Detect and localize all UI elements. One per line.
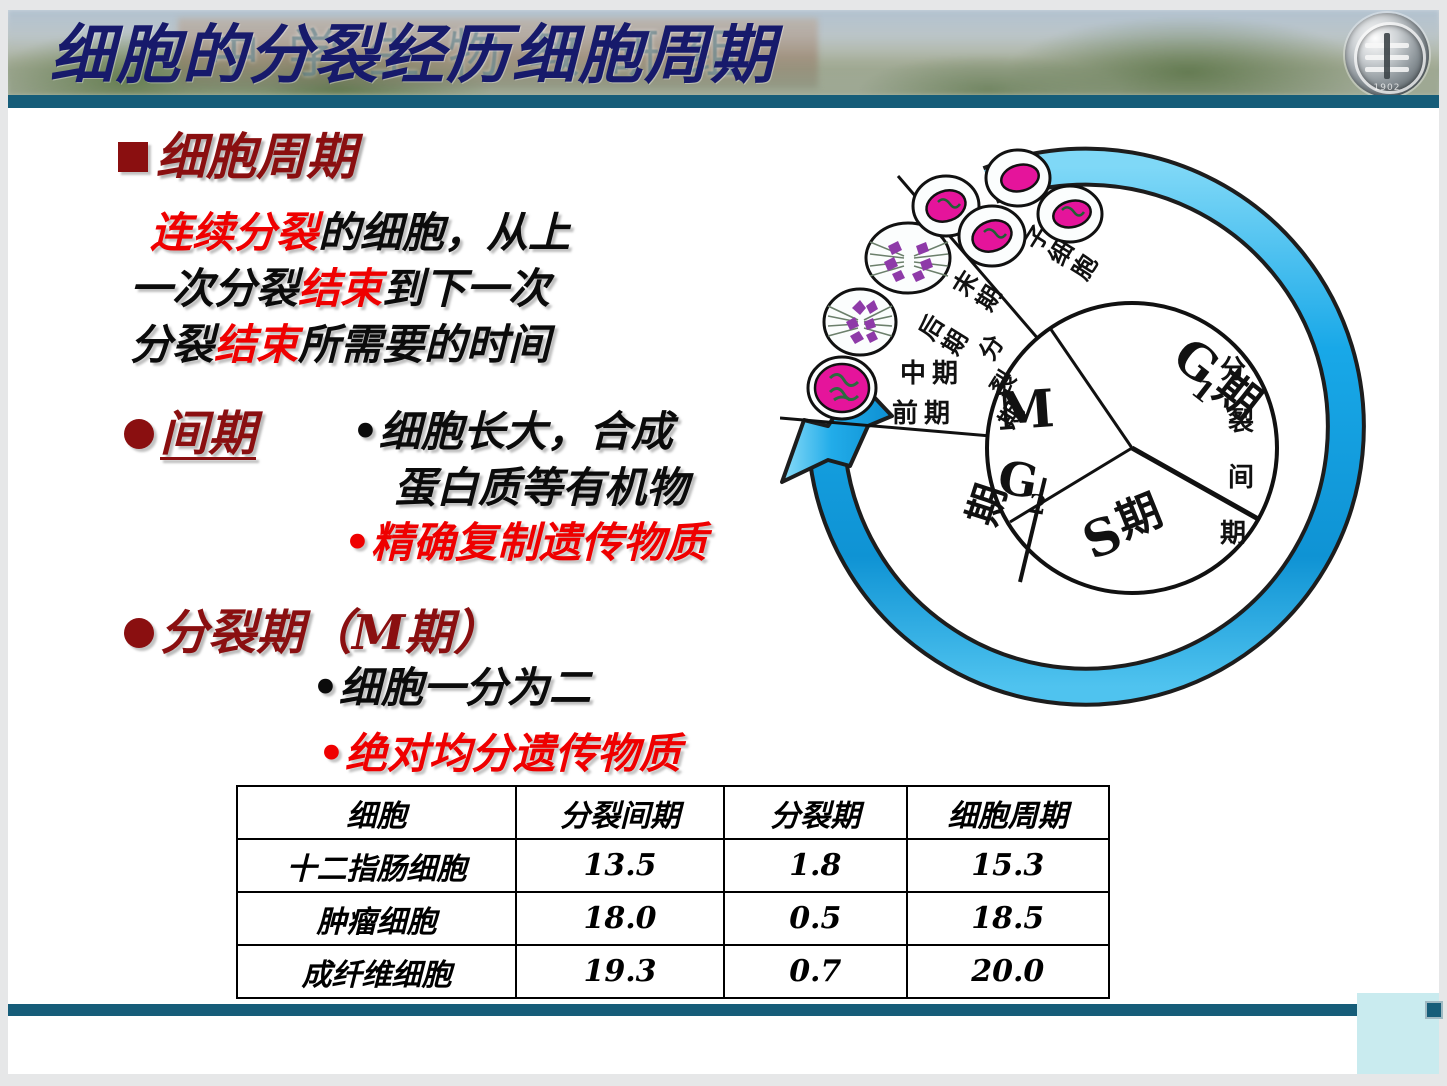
- mitosis-detail-2: •绝对均分遗传物质: [318, 729, 681, 779]
- interphase-detail-1-line2: 蛋白质等有机物: [352, 460, 688, 516]
- slide-frame-top: [0, 0, 1447, 10]
- definition-text-3: 到下一次: [382, 264, 550, 313]
- mitosis-cell-daughter-2: [1038, 186, 1102, 242]
- slide-frame-left: [0, 0, 8, 1086]
- table-cell-r1c0: 肿瘤细胞: [237, 892, 516, 945]
- cell-cycle-diagram: G 1 期 S 期 G 2 期 M 分 裂 间 期: [780, 130, 1400, 750]
- table-header-cell-1: 分裂间期: [516, 786, 724, 839]
- heading-text: 细胞周期: [156, 127, 356, 186]
- table-row: 肿瘤细胞 18.0 0.5 18.5: [237, 892, 1109, 945]
- table-header-row: 细胞 分裂间期 分裂期 细胞周期: [237, 786, 1109, 839]
- school-emblem-logo: 1902: [1345, 13, 1429, 95]
- definition-highlight-3: 结束: [214, 320, 298, 369]
- inner-phase-circle: [987, 303, 1277, 593]
- table-cell-r1c2: 0.5: [724, 892, 906, 945]
- emblem-vertical-bar: [1384, 33, 1390, 79]
- interphase-detail-2: •精确复制遗传物质: [344, 518, 707, 568]
- definition-highlight-2: 结束: [298, 264, 382, 313]
- table-cell-r0c2: 1.8: [724, 839, 906, 892]
- round-bullet-icon: [124, 419, 154, 449]
- interphase-char-0: 分: [1220, 355, 1246, 385]
- bullet-interphase: 间期: [124, 405, 256, 463]
- mitosis-detail-1: •细胞一分为二: [312, 663, 591, 713]
- table-cell-r1c3: 18.5: [907, 892, 1110, 945]
- bullet-mitosis-label: 分裂期（M期）: [160, 605, 501, 661]
- interphase-detail-1: •细胞长大，合成 蛋白质等有机物: [352, 404, 688, 516]
- phase-label-metaphase-1: 期: [932, 359, 958, 389]
- square-bullet-icon: [118, 142, 148, 172]
- bullet-interphase-label: 间期: [160, 406, 256, 462]
- slide-frame-bottom: [0, 1074, 1447, 1086]
- mitosis-cell-daughter-1: [986, 150, 1050, 206]
- slide-header: 中学生物教研组 细胞的分裂经历细胞周期 1902: [8, 10, 1439, 95]
- table-cell-r2c3: 20.0: [907, 945, 1110, 998]
- bullet-mitosis: 分裂期（M期）: [124, 604, 501, 662]
- definition-text-1: 的细胞，从上: [318, 208, 570, 257]
- table-cell-r2c1: 19.3: [516, 945, 724, 998]
- mitosis-cell-prophase: [808, 357, 876, 419]
- interphase-detail-1-line1: •细胞长大，合成: [352, 407, 673, 456]
- phase-label-prophase-1: 期: [924, 399, 950, 429]
- table-cell-r2c0: 成纤维细胞: [237, 945, 516, 998]
- page-title: 细胞的分裂经历细胞周期: [50, 18, 776, 94]
- interphase-char-3: 期: [1220, 519, 1246, 549]
- table-header-cell-0: 细胞: [237, 786, 516, 839]
- interphase-char-1: 裂: [1228, 407, 1254, 437]
- table-header-cell-3: 细胞周期: [907, 786, 1110, 839]
- slide: 中学生物教研组 细胞的分裂经历细胞周期 1902 细胞周期 连续分裂的细胞，从上…: [0, 0, 1447, 1086]
- section-heading-cell-cycle: 细胞周期: [118, 128, 356, 186]
- definition-text-5: 所需要的时间: [298, 320, 550, 369]
- phase-label-metaphase-0: 中: [900, 359, 926, 389]
- interphase-char-2: 间: [1228, 463, 1254, 493]
- outer-label-mitosis: 分 裂 期: [972, 329, 1029, 433]
- round-bullet-icon-2: [124, 618, 154, 648]
- table-row: 十二指肠细胞 13.5 1.8 15.3: [237, 839, 1109, 892]
- definition-text-2: 一次分裂: [130, 264, 298, 313]
- header-accent-bar: [8, 95, 1439, 108]
- mitosis-cell-metaphase: [824, 289, 896, 355]
- table-cell-r0c1: 13.5: [516, 839, 724, 892]
- definition-text-4: 分裂: [130, 320, 214, 369]
- cell-cycle-duration-table: 细胞 分裂间期 分裂期 细胞周期 十二指肠细胞 13.5 1.8 15.3 肿瘤…: [236, 785, 1110, 999]
- table-cell-r0c3: 15.3: [907, 839, 1110, 892]
- footer-corner-tab[interactable]: [1425, 1001, 1443, 1019]
- table-cell-r2c2: 0.7: [724, 945, 906, 998]
- cell-cycle-definition: 连续分裂的细胞，从上 一次分裂结束到下一次 分裂结束所需要的时间: [130, 205, 750, 373]
- table-header-cell-2: 分裂期: [724, 786, 906, 839]
- emblem-year: 1902: [1345, 83, 1429, 93]
- slide-frame-right: [1439, 0, 1447, 1086]
- phase-label-prophase-0: 前: [892, 398, 918, 429]
- definition-highlight-1: 连续分裂: [150, 208, 318, 257]
- footer-accent-bar: [8, 1004, 1357, 1016]
- table-cell-r1c1: 18.0: [516, 892, 724, 945]
- mitosis-char-0: 分: [972, 329, 1009, 365]
- table-row: 成纤维细胞 19.3 0.7 20.0: [237, 945, 1109, 998]
- table-cell-r0c0: 十二指肠细胞: [237, 839, 516, 892]
